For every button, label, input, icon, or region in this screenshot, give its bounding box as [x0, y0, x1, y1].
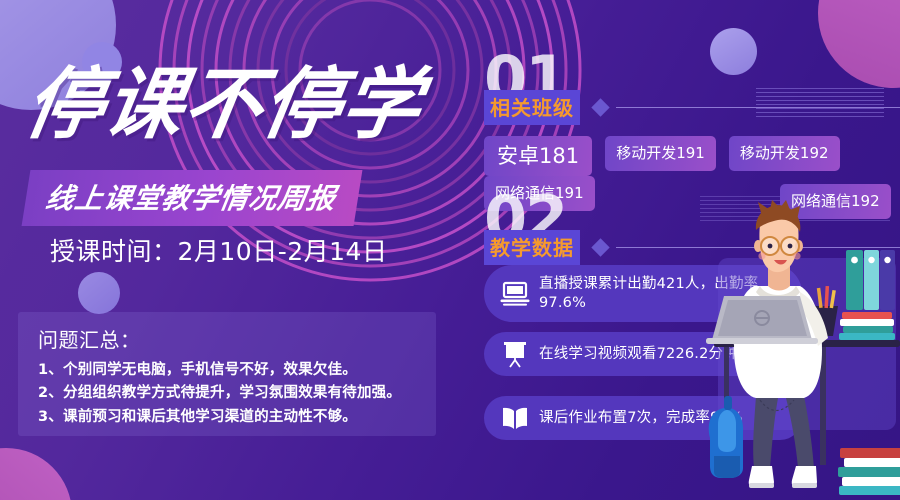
- problem-item: 2、分组组织教学方式待提升，学习氛围效果有待加强。: [38, 382, 436, 405]
- poster-subtitle-band: 线上课堂教学情况周报: [22, 170, 363, 226]
- class-tag[interactable]: 安卓181: [484, 136, 592, 176]
- problem-summary-heading: 问题汇总：: [38, 324, 436, 353]
- section-label-text: 相关班级: [490, 96, 574, 120]
- problem-item: 1、个别同学无电脑，手机信号不好，效果欠佳。: [38, 359, 436, 382]
- decorative-circle-top-right-periwinkle: [710, 28, 757, 75]
- diamond-bullet-icon: [591, 98, 609, 116]
- class-tag[interactable]: 移动开发192: [729, 136, 840, 171]
- decorative-circle-bottom-left: [0, 448, 72, 500]
- projector-screen-icon: [498, 337, 532, 371]
- section-label-chip: 教学数据: [484, 230, 580, 265]
- problem-summary-box: 问题汇总： 1、个别同学无电脑，手机信号不好，效果欠佳。 2、分组组织教学方式待…: [18, 312, 436, 436]
- section-label-text: 教学数据: [490, 236, 574, 260]
- lecture-time-text: 授课时间：2月10日-2月14日: [50, 232, 387, 268]
- problem-item: 3、课前预习和课后其他学习渠道的主动性不够。: [38, 406, 436, 429]
- decorative-circle-mid-left: [78, 272, 120, 314]
- open-book-icon: [498, 401, 532, 435]
- rule-line: [616, 107, 900, 108]
- section-rule: [594, 101, 900, 115]
- student-at-desk-illustration: [700, 200, 900, 500]
- decorative-circle-top-right-magenta: [818, 0, 900, 88]
- class-tag[interactable]: 移动开发191: [605, 136, 716, 171]
- poster-canvas: 停课不停学 线上课堂教学情况周报 授课时间：2月10日-2月14日 问题汇总： …: [0, 0, 900, 500]
- poster-title: 停课不停学: [20, 66, 427, 144]
- section-label-chip: 相关班级: [484, 90, 580, 125]
- poster-subtitle: 线上课堂教学情况周报: [43, 177, 339, 217]
- problem-summary-list: 1、个别同学无电脑，手机信号不好，效果欠佳。 2、分组组织教学方式待提升，学习氛…: [38, 359, 436, 429]
- diamond-bullet-icon: [591, 238, 609, 256]
- laptop-icon: [498, 277, 532, 311]
